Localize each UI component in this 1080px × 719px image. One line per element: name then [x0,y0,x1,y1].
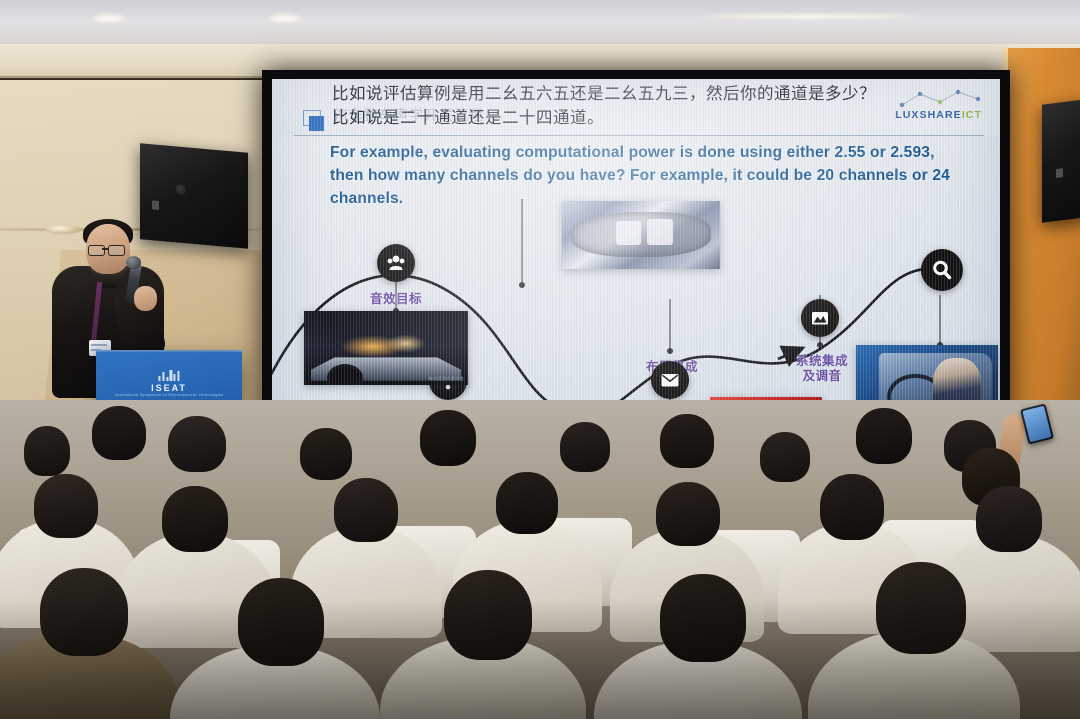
audience-head [34,474,98,538]
car-body-shape [571,212,710,257]
speaker-badge [152,200,159,210]
glasses-left-lens [88,245,105,256]
envelope-icon [660,372,680,388]
audience-head [238,578,324,666]
slide-header-rule [294,135,984,136]
audience-head [976,486,1042,552]
audience-head [300,428,352,480]
wall-fixture [45,225,81,234]
wall-speaker-left [140,143,248,248]
car-seat-shape [647,219,672,245]
speaker-hand [134,286,157,311]
logo-filled-square [309,116,324,131]
microphone-head [126,256,141,269]
audience-head [24,426,70,476]
steering-wheel-shape [330,367,360,385]
audience-head [92,406,146,460]
ceiling-light [268,14,302,23]
network-graphic-icon [894,87,986,111]
concert-in-car-thumb: 车内沉浸式音乐会 [304,311,468,385]
audience-head [660,574,746,662]
ceiling-light [92,14,126,23]
glasses-right-lens [108,245,125,256]
node-system-integration[interactable] [801,299,839,337]
iseat-acronym: ISEAT [96,383,242,393]
header-cn-line1: 比如说评估算例是用二幺五六五还是二幺五九三，然后你的通道是多少？ [332,82,952,106]
header-cn-line2: 比如说是二十通道还是二十四通道。 [332,106,952,130]
audience-head [334,478,398,542]
speaker-badge [1056,168,1063,178]
audience-head [856,408,912,464]
luxshare-logo: LUXSHAREICT [895,109,982,121]
car-speaker-layout-thumb [562,201,720,269]
audience-head [876,562,966,654]
mountain-chart-icon [810,309,830,327]
node-group-people[interactable] [377,244,415,282]
speaker-driver [176,184,186,195]
conference-photo: 汽车整车声学开发流程 比如说评估算例是用二幺五六五还是二幺五九三，然后你的通道是… [0,0,1080,719]
audience [0,400,1080,719]
group-people-icon [386,253,406,273]
node-sound-confirmation[interactable] [921,249,963,291]
ceiling [0,0,1080,48]
luxshare-wordmark: LUXSHARE [895,109,962,121]
glasses-bridge [102,248,109,250]
audience-head [444,570,532,660]
badge-line [91,344,107,346]
car-seat-shape [616,221,641,244]
two-squares-logo [303,110,324,131]
thumb-caption: 车内沉浸式音乐会 [429,376,464,382]
audience-head [760,432,810,482]
phone-screen [1022,406,1051,442]
luxshare-ict: ICT [962,109,982,121]
iseat-logo-bars [158,370,179,381]
audience-head [420,410,476,466]
audience-head [496,472,558,534]
audience-head [162,486,228,552]
node-label-0: 音效目标 [344,291,448,306]
node-component-development[interactable] [651,361,689,399]
wall-speaker-right [1042,99,1080,222]
audience-head [656,482,720,546]
audience-head [820,474,884,540]
iseat-acronym-subtitle: International Symposium on Electroacoust… [96,393,242,398]
audience-head [560,422,610,472]
magnifier-icon [931,259,953,281]
ceiling-light-strip [700,14,920,19]
slide-header-chinese: 比如说评估算例是用二幺五六五还是二幺五九三，然后你的通道是多少？ 比如说是二十通… [332,82,952,130]
audience-head [660,414,714,468]
audience-head [168,416,226,472]
audience-head [40,568,128,656]
